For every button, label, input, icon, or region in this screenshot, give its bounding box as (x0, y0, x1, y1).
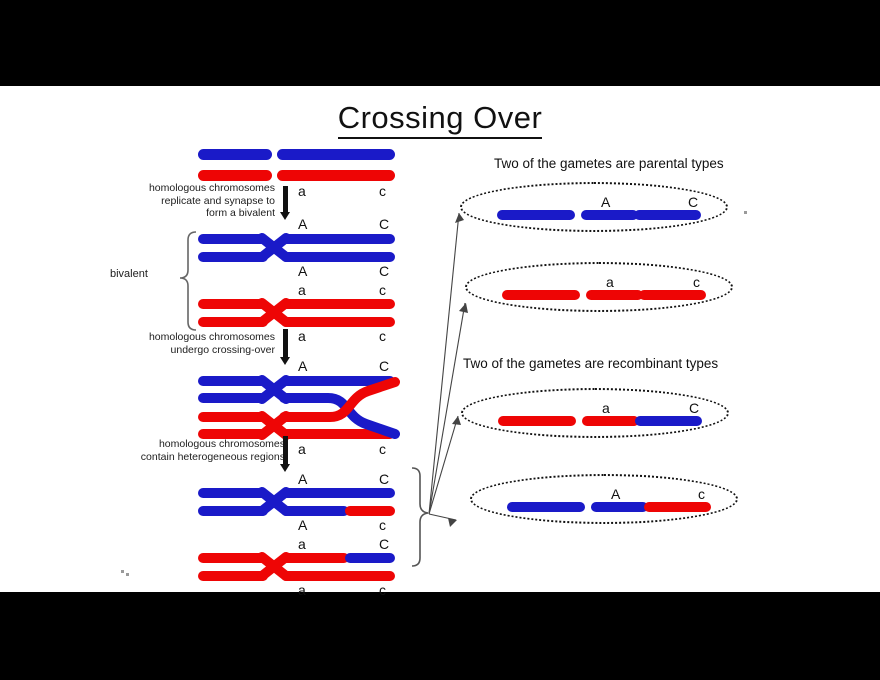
slide-area: Crossing Over a c homologous chromosomes… (0, 86, 880, 592)
gamete-label-left: A (611, 486, 620, 502)
gamete-label-right: C (689, 400, 699, 416)
gamete-long-arm-distal (634, 210, 701, 220)
recombinant-heading: Two of the gametes are recombinant types (463, 356, 718, 371)
gamete-label-left: a (602, 400, 610, 416)
gamete-label-right: c (693, 274, 700, 290)
artifact-speck (121, 570, 124, 573)
gamete-label-left: a (606, 274, 614, 290)
gamete-long-arm-proximal (591, 502, 648, 512)
gamete-short-arm (498, 416, 576, 426)
gamete-long-arm-distal (644, 502, 711, 512)
screenshot-canvas: Crossing Over a c homologous chromosomes… (0, 0, 880, 680)
gamete-short-arm (507, 502, 585, 512)
gamete-long-arm-proximal (581, 210, 638, 220)
gamete-brace-and-arrows (0, 86, 880, 592)
artifact-speck (744, 211, 747, 214)
gamete-long-arm-proximal (582, 416, 639, 426)
gamete-label-right: C (688, 194, 698, 210)
artifact-speck (126, 573, 129, 576)
parental-heading: Two of the gametes are parental types (494, 156, 724, 171)
gamete-label-right: c (698, 486, 705, 502)
gamete-short-arm (502, 290, 580, 300)
gamete-long-arm-distal (639, 290, 706, 300)
gamete-long-arm-distal (635, 416, 702, 426)
gamete-long-arm-proximal (586, 290, 643, 300)
gamete-short-arm (497, 210, 575, 220)
gamete-label-left: A (601, 194, 610, 210)
